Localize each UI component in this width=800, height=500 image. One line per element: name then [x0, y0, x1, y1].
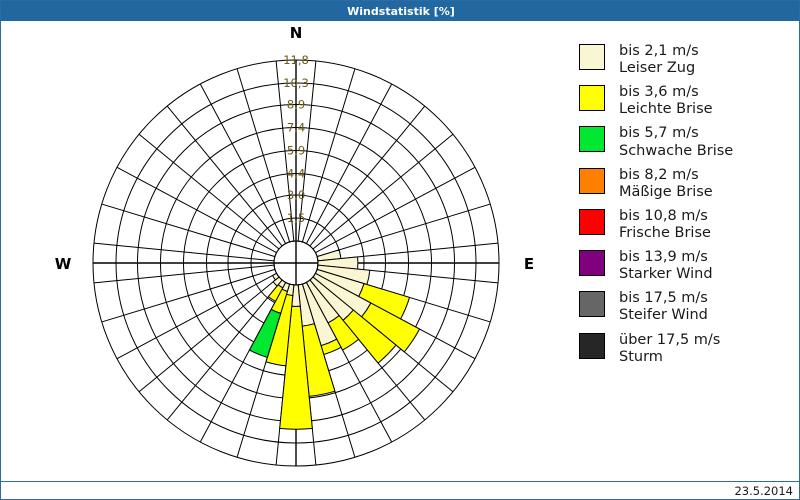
legend-beaufort-name: Leiser Zug: [619, 60, 699, 77]
window-titlebar: Windstatistik [%]: [1, 1, 800, 21]
legend-item: über 17,5 m/sSturm: [579, 332, 794, 366]
legend-color-swatch: [579, 250, 605, 276]
compass-label-e: E: [524, 255, 534, 273]
grid-spoke: [102, 204, 275, 257]
date-stamp: 23.5.2014: [734, 484, 793, 498]
window-title: Windstatistik [%]: [347, 5, 455, 18]
grid-spoke: [102, 269, 275, 322]
legend-speed-range: über 17,5 m/s: [619, 332, 720, 348]
legend-label: über 17,5 m/sSturm: [619, 332, 720, 366]
legend-speed-range: bis 8,2 m/s: [619, 167, 699, 183]
grid-spoke: [317, 204, 490, 257]
radial-tick-label: 7,4: [287, 120, 305, 134]
legend-color-swatch: [579, 209, 605, 235]
legend-beaufort-name: Leichte Brise: [619, 101, 713, 118]
wind-rose-petals: [249, 241, 419, 429]
legend-color-swatch: [579, 126, 605, 152]
legend-item: bis 10,8 m/sFrische Brise: [579, 208, 794, 242]
radial-tick-label: 8,9: [287, 97, 305, 111]
legend-item: bis 17,5 m/sSteifer Wind: [579, 290, 794, 324]
legend-speed-range: bis 2,1 m/s: [619, 43, 699, 59]
legend-beaufort-name: Steifer Wind: [619, 307, 708, 324]
legend-item: bis 3,6 m/sLeichte Brise: [579, 84, 794, 118]
legend-color-swatch: [579, 44, 605, 70]
legend-item: bis 8,2 m/sMäßige Brise: [579, 167, 794, 201]
status-bar: 23.5.2014: [1, 481, 800, 500]
legend: bis 2,1 m/sLeiser Zugbis 3,6 m/sLeichte …: [579, 43, 794, 373]
wind-rose-svg: 1,53,04,45,97,48,910,311,8 NESW: [1, 21, 561, 481]
compass-label-w: W: [55, 255, 72, 273]
legend-speed-range: bis 13,9 m/s: [619, 249, 708, 265]
legend-label: bis 8,2 m/sMäßige Brise: [619, 167, 713, 201]
legend-label: bis 2,1 m/sLeiser Zug: [619, 43, 699, 77]
legend-beaufort-name: Mäßige Brise: [619, 184, 713, 201]
legend-speed-range: bis 10,8 m/s: [619, 208, 708, 224]
legend-beaufort-name: Frische Brise: [619, 225, 711, 242]
legend-speed-range: bis 5,7 m/s: [619, 125, 699, 141]
legend-color-swatch: [579, 333, 605, 359]
radial-tick-label: 11,8: [283, 53, 309, 67]
wind-rose-plot: 1,53,04,45,97,48,910,311,8 NESW: [1, 21, 561, 481]
grid-spoke: [237, 69, 290, 242]
radial-tick-label: 4,4: [287, 167, 305, 181]
windstatistik-window: Windstatistik [%] 1,53,04,45,97,48,910,3…: [0, 0, 800, 500]
legend-color-swatch: [579, 85, 605, 111]
legend-label: bis 13,9 m/sStarker Wind: [619, 249, 713, 283]
legend-color-swatch: [579, 291, 605, 317]
legend-label: bis 10,8 m/sFrische Brise: [619, 208, 711, 242]
chart-content-area: 1,53,04,45,97,48,910,311,8 NESW bis 2,1 …: [1, 21, 800, 481]
legend-item: bis 5,7 m/sSchwache Brise: [579, 125, 794, 159]
legend-color-swatch: [579, 168, 605, 194]
legend-speed-range: bis 17,5 m/s: [619, 290, 708, 306]
radial-tick-label: 1,5: [287, 211, 305, 225]
legend-beaufort-name: Schwache Brise: [619, 143, 733, 160]
legend-label: bis 5,7 m/sSchwache Brise: [619, 125, 733, 159]
radial-tick-label: 10,3: [283, 76, 309, 90]
legend-label: bis 17,5 m/sSteifer Wind: [619, 290, 708, 324]
legend-beaufort-name: Starker Wind: [619, 266, 713, 283]
compass-label-n: N: [290, 24, 303, 42]
radial-tick-label: 3,0: [287, 188, 305, 202]
radial-tick-label: 5,9: [287, 144, 305, 158]
legend-beaufort-name: Sturm: [619, 349, 720, 366]
legend-item: bis 2,1 m/sLeiser Zug: [579, 43, 794, 77]
legend-label: bis 3,6 m/sLeichte Brise: [619, 84, 713, 118]
grid-spoke: [302, 69, 355, 242]
legend-item: bis 13,9 m/sStarker Wind: [579, 249, 794, 283]
legend-speed-range: bis 3,6 m/s: [619, 84, 699, 100]
